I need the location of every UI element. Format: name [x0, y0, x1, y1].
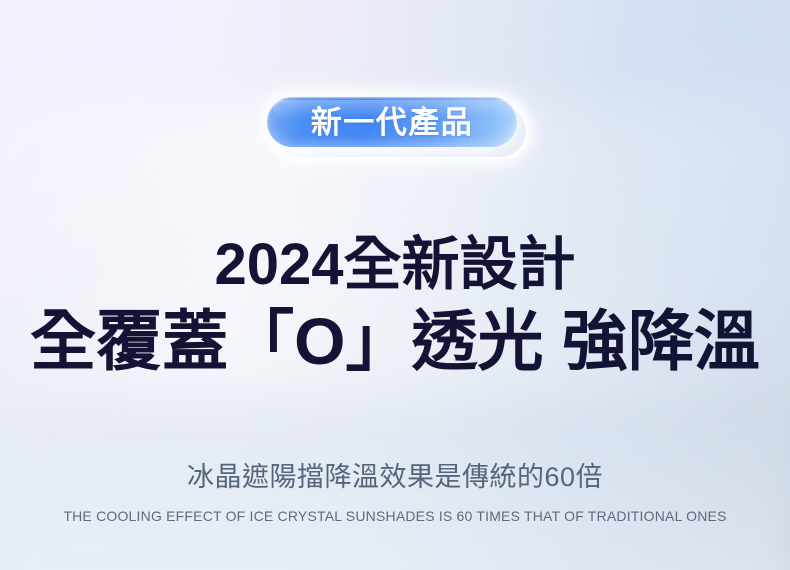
headline-block: 2024全新設計 全覆蓋「O」透光 強降溫 [0, 236, 790, 374]
caption-text-english: THE COOLING EFFECT OF ICE CRYSTAL SUNSHA… [0, 509, 790, 523]
new-generation-badge[interactable]: 新一代產品 [264, 96, 526, 158]
badge-pill: 新一代產品 [267, 97, 517, 147]
subtitle-text: 冰晶遮陽擋降溫效果是傳統的60倍 [0, 464, 790, 491]
headline-line-1: 2024全新設計 [0, 236, 790, 294]
badge-container: 新一代產品 [0, 92, 790, 162]
badge-label: 新一代產品 [311, 107, 474, 138]
headline-line-2: 全覆蓋「O」透光 強降溫 [0, 308, 790, 374]
hero-banner: 新一代產品 2024全新設計 全覆蓋「O」透光 強降溫 冰晶遮陽擋降溫效果是傳統… [0, 0, 790, 570]
